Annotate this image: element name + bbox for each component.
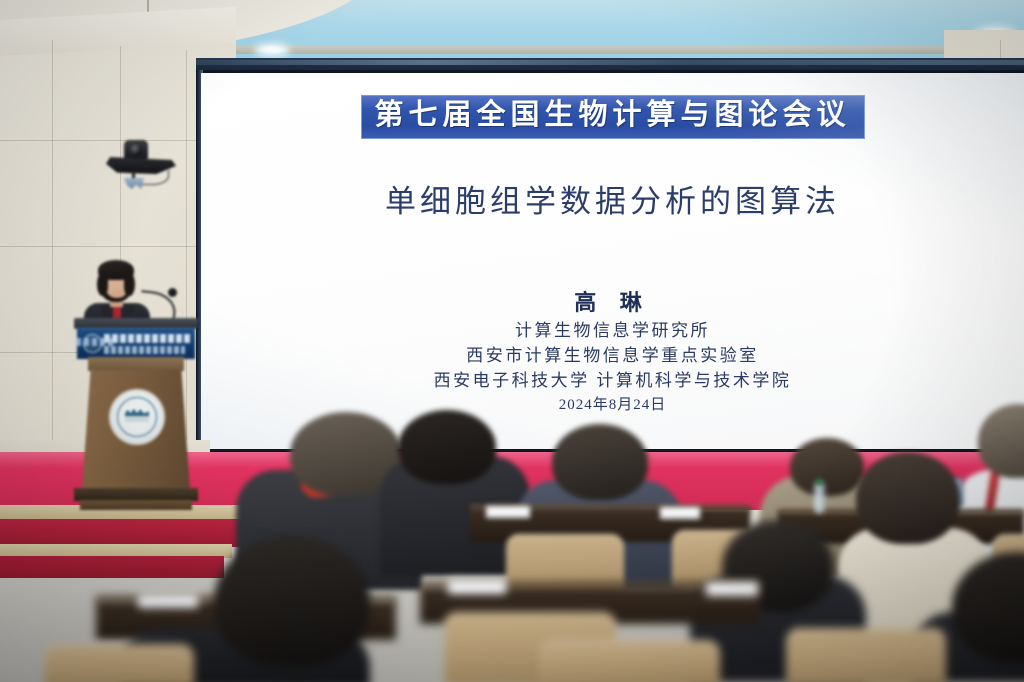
- projection-screen: 第七届全国生物计算与图论会议 单细胞组学数据分析的图算法 高 琳 计算生物信息学…: [201, 73, 1024, 449]
- lecture-hall-photo: 第七届全国生物计算与图论会议 单细胞组学数据分析的图算法 高 琳 计算生物信息学…: [0, 0, 1024, 682]
- camera-lens-icon: [130, 144, 142, 156]
- audience-head: [552, 424, 648, 500]
- audience-head: [856, 452, 960, 544]
- podium-banner-line2: [104, 346, 185, 354]
- chair-back: [786, 628, 946, 682]
- presenter-hair-left: [97, 272, 108, 296]
- screen-header-gloss: [196, 60, 1024, 65]
- presenter-hair-right: [124, 272, 135, 296]
- paper-sheet: [486, 506, 530, 518]
- audience-head: [214, 536, 370, 666]
- paper-sheet: [660, 507, 700, 519]
- chair-back: [44, 644, 194, 682]
- podium-banner-line1: [104, 334, 191, 343]
- microphone-capsule-icon: [168, 288, 177, 297]
- bottle-cap: [816, 479, 823, 485]
- university-emblem-icon: [110, 390, 164, 444]
- podium-plinth: [80, 500, 192, 510]
- downlight-icon: [256, 45, 288, 55]
- podium: [72, 318, 200, 518]
- ptz-camera-icon: [106, 140, 176, 186]
- chair-back: [540, 640, 720, 682]
- screen-glare: [201, 73, 1024, 449]
- wall-seam: [0, 246, 196, 247]
- stage-step-face-upper: [0, 519, 260, 547]
- paper-sheet: [448, 580, 506, 594]
- audience-head: [398, 410, 496, 484]
- water-bottle: [814, 483, 825, 513]
- podium-sponsor-icons: [76, 338, 116, 346]
- paper-sheet: [706, 582, 758, 596]
- audience-head: [790, 438, 864, 496]
- camera-cable: [142, 170, 169, 185]
- paper-sheet: [138, 594, 198, 608]
- podium-collar: [88, 357, 184, 371]
